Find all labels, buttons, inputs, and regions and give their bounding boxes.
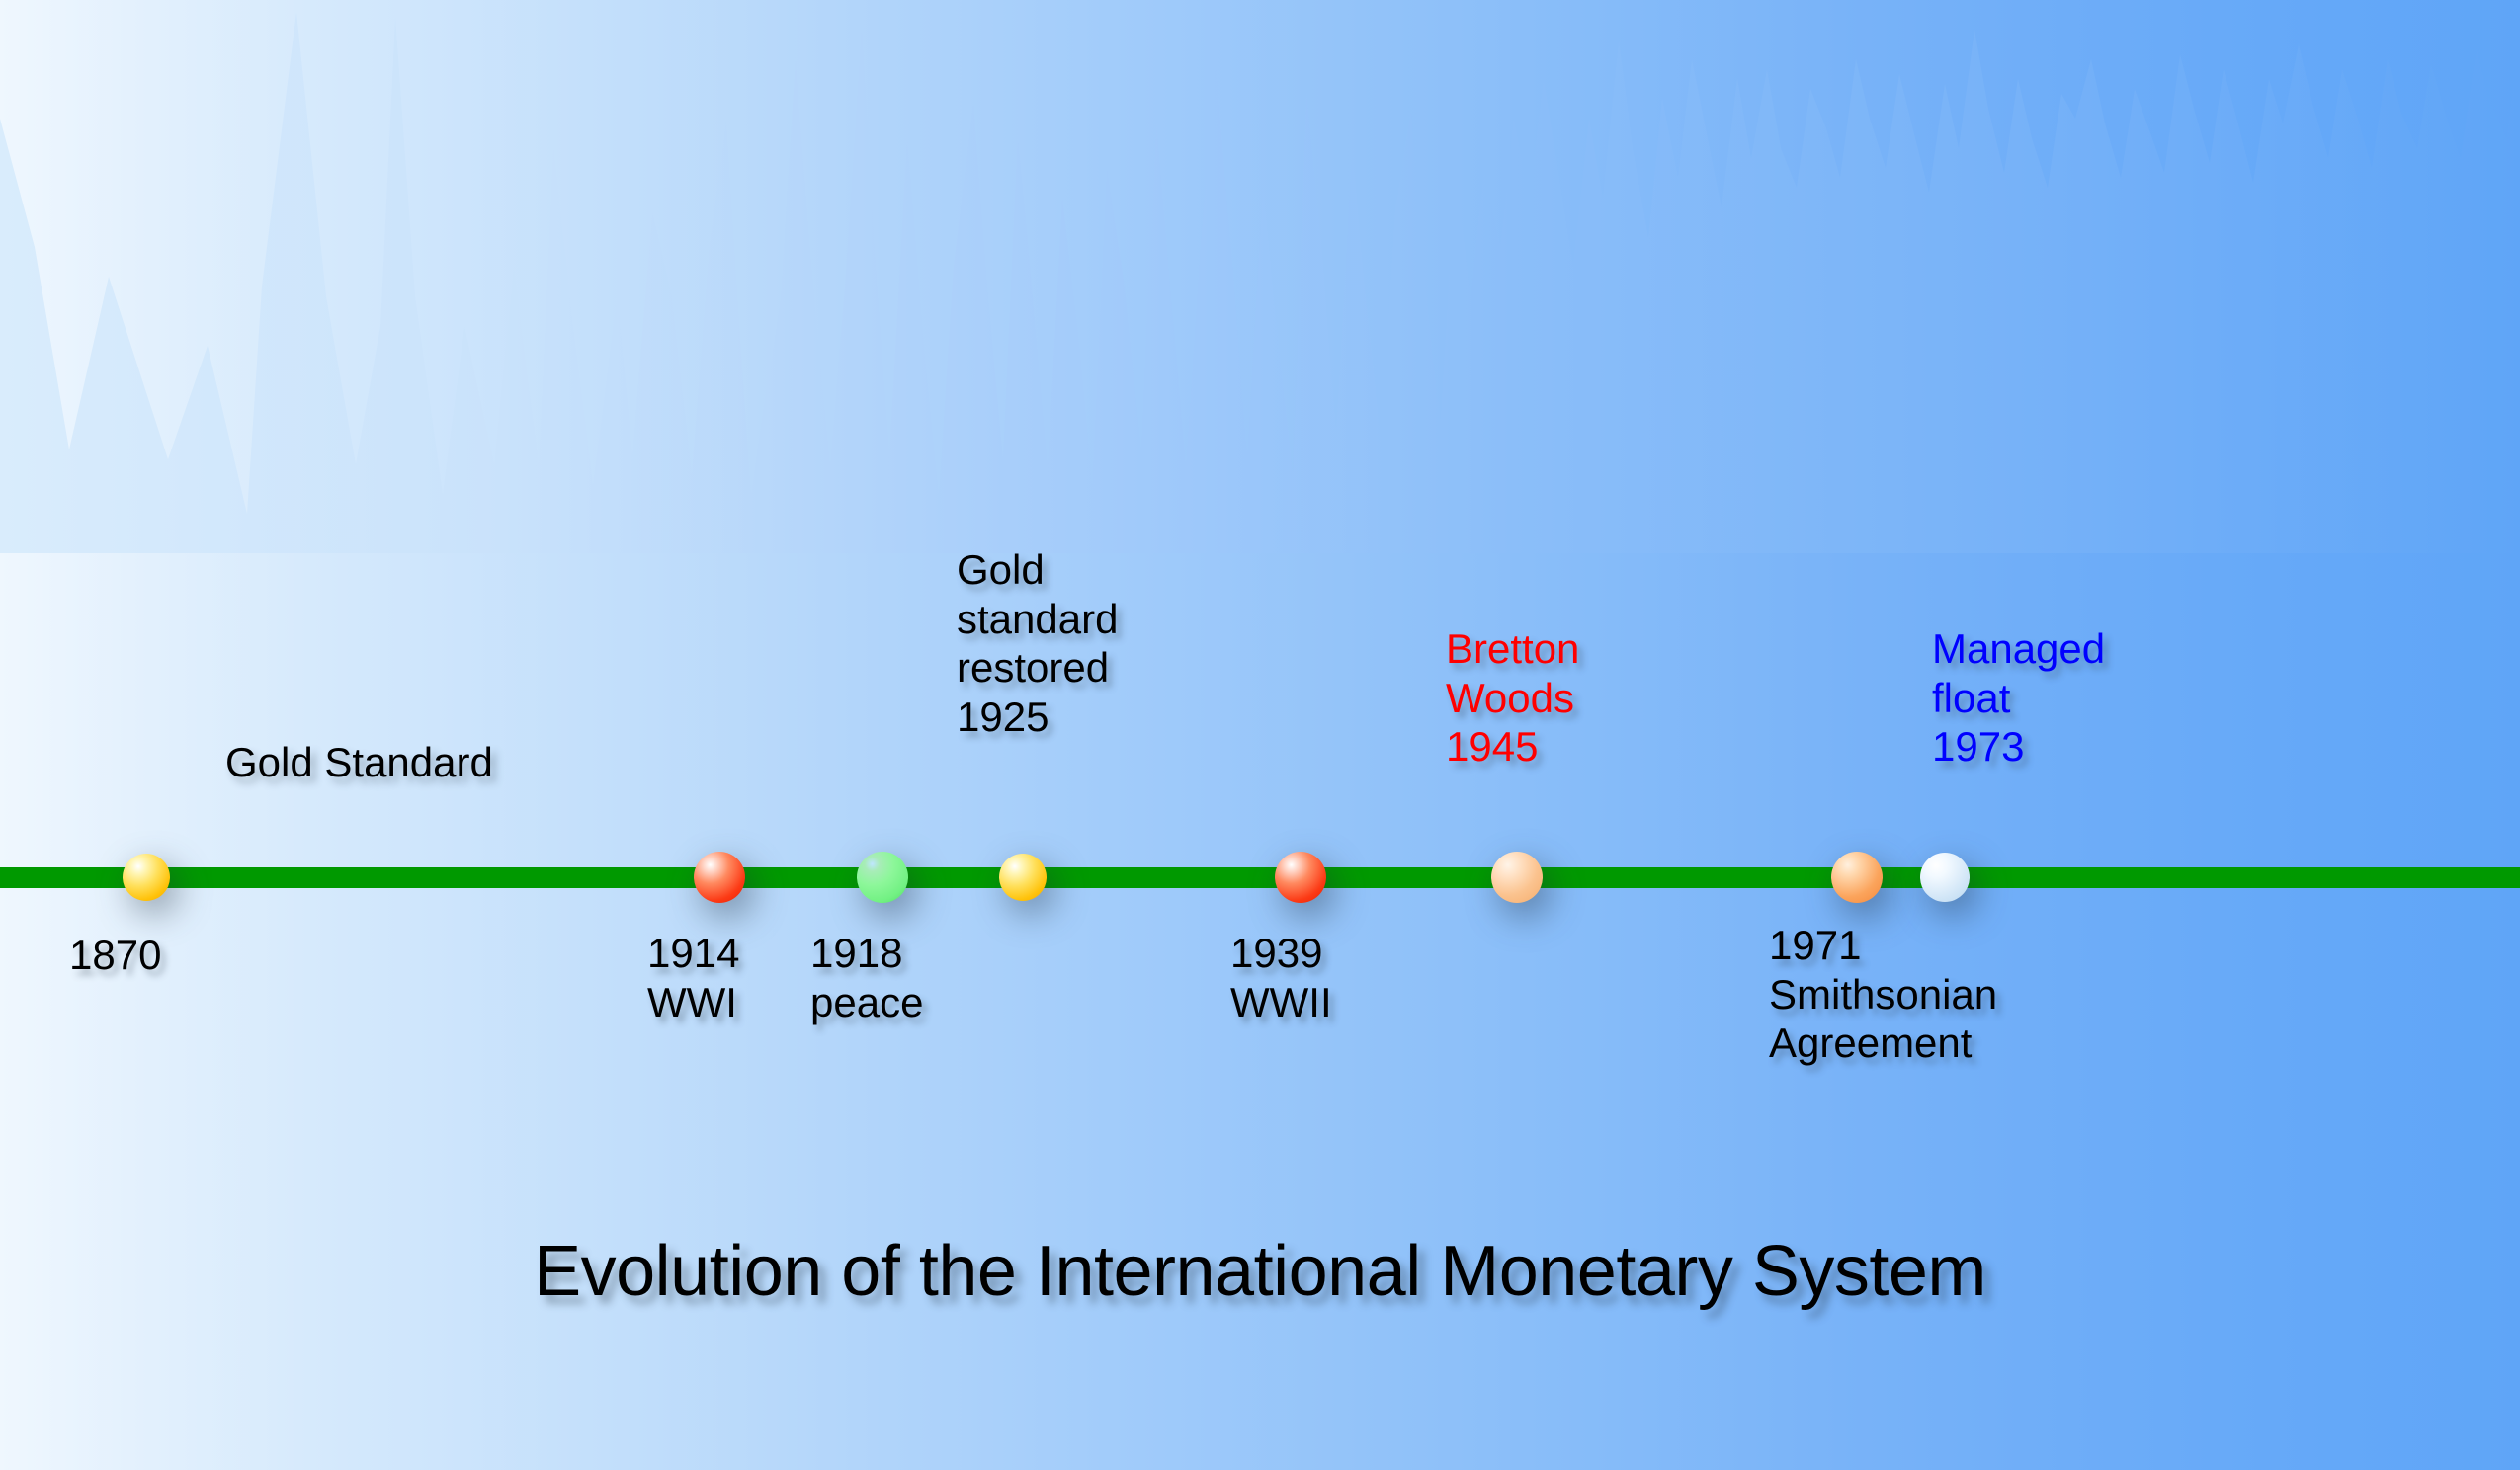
event-label-1971: 1971 Smithsonian Agreement bbox=[1769, 921, 1997, 1068]
marker-1914[interactable] bbox=[694, 852, 745, 903]
era-label-gold-standard: Gold Standard bbox=[225, 739, 493, 786]
marker-1973[interactable] bbox=[1920, 853, 1970, 902]
marker-1945[interactable] bbox=[1491, 852, 1543, 903]
sphere-icon bbox=[123, 854, 170, 901]
event-label-1945: Bretton Woods 1945 bbox=[1446, 624, 1579, 772]
event-label-1870: 1870 bbox=[69, 931, 161, 980]
event-label-1925: Gold standard restored 1925 bbox=[957, 545, 1118, 741]
sphere-icon bbox=[1831, 852, 1883, 903]
sphere-icon bbox=[999, 854, 1047, 901]
skyline-area-chart bbox=[0, 0, 2520, 553]
marker-1925[interactable] bbox=[999, 854, 1047, 901]
sphere-icon bbox=[1920, 853, 1970, 902]
marker-1918[interactable] bbox=[857, 852, 908, 903]
timeline-infographic: Gold Standard 1870 1914 WWI 1918 peace 1… bbox=[0, 0, 2520, 1470]
page-title: Evolution of the International Monetary … bbox=[0, 1231, 2520, 1312]
marker-1971[interactable] bbox=[1831, 852, 1883, 903]
sphere-icon bbox=[1491, 852, 1543, 903]
sphere-icon bbox=[857, 852, 908, 903]
sphere-icon bbox=[1275, 852, 1326, 903]
event-label-1914: 1914 WWI bbox=[647, 929, 739, 1026]
event-label-1973: Managed float 1973 bbox=[1932, 624, 2105, 772]
sphere-icon bbox=[694, 852, 745, 903]
event-label-1918: 1918 peace bbox=[810, 929, 923, 1026]
event-label-1939: 1939 WWII bbox=[1230, 929, 1332, 1026]
marker-1870[interactable] bbox=[123, 854, 170, 901]
marker-1939[interactable] bbox=[1275, 852, 1326, 903]
timeline-axis-line bbox=[0, 867, 2520, 888]
